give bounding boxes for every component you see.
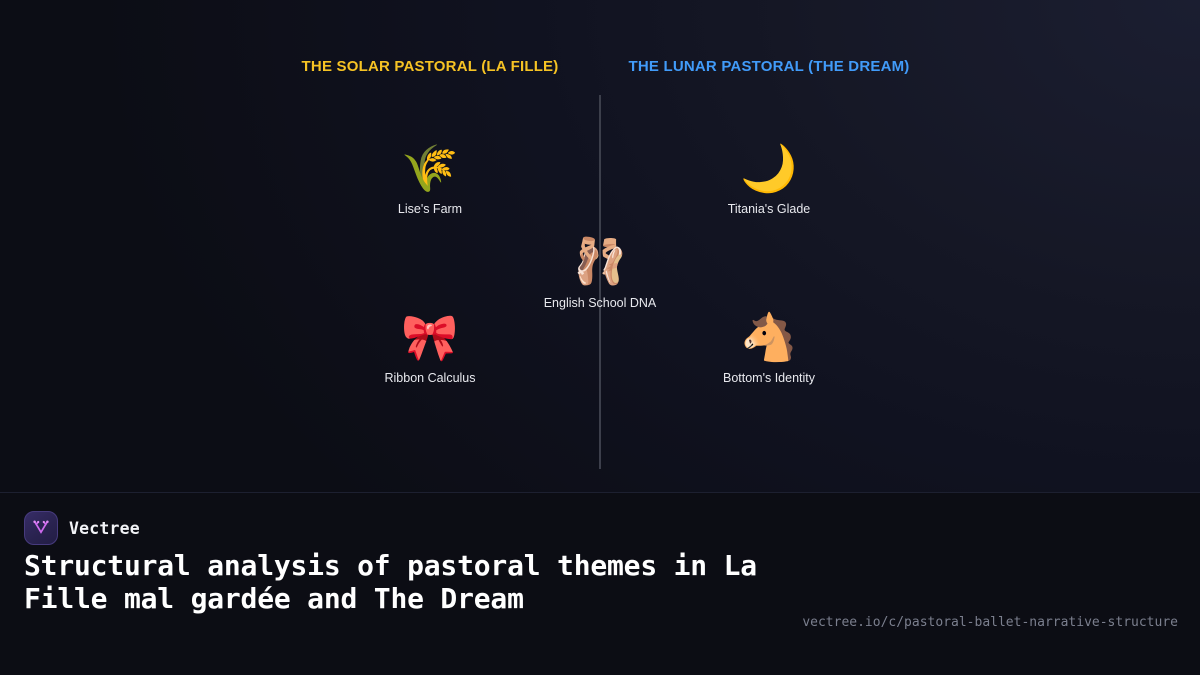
diagram-node-ribbon-calculus[interactable]: 🎀 Ribbon Calculus [310, 309, 550, 385]
screenshot-root: THE SOLAR PASTORAL (LA FILLE) THE LUNAR … [0, 0, 1200, 675]
vectree-logo-icon [24, 511, 58, 545]
diagram-node-label: Titania's Glade [649, 202, 889, 216]
diagram-node-titanias-glade[interactable]: 🌙 Titania's Glade [649, 140, 889, 216]
ribbon-icon: 🎀 [310, 309, 550, 365]
diagram-node-english-school-dna[interactable]: 🩰 English School DNA [480, 234, 720, 310]
footer-bar: Vectree Structural analysis of pastoral … [0, 493, 1200, 675]
diagram-node-bottoms-identity[interactable]: 🐴 Bottom's Identity [649, 309, 889, 385]
diagram-canvas: THE SOLAR PASTORAL (LA FILLE) THE LUNAR … [0, 0, 1200, 492]
page-title: Structural analysis of pastoral themes i… [24, 550, 784, 615]
sheaf-of-rice-icon: 🌾 [310, 140, 550, 196]
brand[interactable]: Vectree [24, 511, 140, 545]
crescent-moon-icon: 🌙 [649, 140, 889, 196]
brand-name: Vectree [69, 519, 140, 538]
diagram-node-label: Bottom's Identity [649, 371, 889, 385]
diagram-node-label: English School DNA [480, 296, 720, 310]
page-url: vectree.io/c/pastoral-ballet-narrative-s… [802, 615, 1178, 630]
diagram-node-lise-farm[interactable]: 🌾 Lise's Farm [310, 140, 550, 216]
horse-face-icon: 🐴 [649, 309, 889, 365]
diagram-node-label: Ribbon Calculus [310, 371, 550, 385]
column-header-lunar: THE LUNAR PASTORAL (THE DREAM) [629, 58, 910, 75]
column-header-solar: THE SOLAR PASTORAL (LA FILLE) [302, 58, 559, 75]
diagram-node-label: Lise's Farm [310, 202, 550, 216]
ballet-shoes-icon: 🩰 [480, 234, 720, 290]
